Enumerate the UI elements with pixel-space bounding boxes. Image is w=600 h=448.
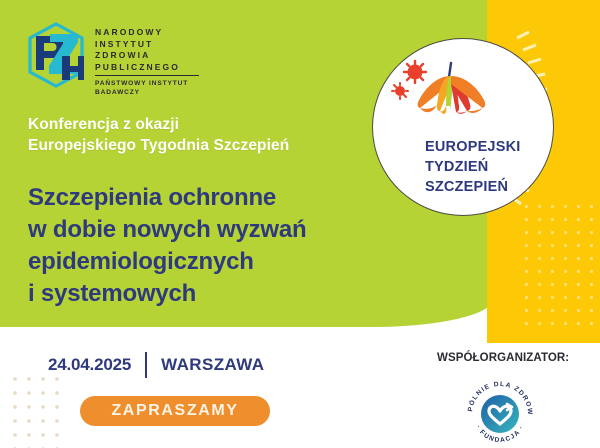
institute-line-1: NARODOWY: [95, 27, 199, 39]
institute-logo: NARODOWY INSTYTUT ZDROWIA PUBLICZNEGO PA…: [26, 22, 199, 97]
event-city: WARSZAWA: [161, 355, 264, 375]
institute-line-2: INSTYTUT: [95, 39, 199, 51]
institute-line-3: ZDROWIA: [95, 50, 199, 62]
conference-poster: NARODOWY INSTYTUT ZDROWIA PUBLICZNEGO PA…: [0, 0, 600, 448]
meta-divider: [145, 352, 147, 378]
conference-title: Szczepienia ochronne w dobie nowych wyzw…: [28, 182, 307, 310]
conference-kicker: Konferencja z okazji Europejskiego Tygod…: [28, 114, 289, 156]
virus-icons: [392, 61, 426, 99]
institute-line-4: PUBLICZNEGO: [95, 62, 199, 74]
institute-logo-divider: [95, 75, 199, 76]
event-date: 24.04.2025: [48, 355, 131, 375]
institute-sub-line-1: PAŃSTWOWY INSTYTUT: [95, 79, 199, 88]
background-yellow-dot-pattern: [520, 200, 600, 330]
umbrella-icon: [387, 55, 515, 141]
coorganizer-label: WSPÓŁORGANIZATOR:: [437, 352, 569, 364]
background-left-dot-pattern: [8, 372, 68, 448]
institute-logo-wordmark: NARODOWY INSTYTUT ZDROWIA PUBLICZNEGO PA…: [95, 22, 199, 97]
pzh-monogram-icon: [26, 22, 86, 88]
invitation-button[interactable]: ZAPRASZAMY: [80, 396, 270, 426]
institute-sub-line-2: BADAWCZY: [95, 88, 199, 97]
coorganizer-foundation-logo: WSPÓLNIE DLA ZDROWIA · FUNDACJA ·: [462, 374, 538, 448]
european-immunization-week-badge: EUROPEJSKI TYDZIEŃ SZCZEPIEŃ: [372, 38, 554, 216]
european-immunization-week-text: EUROPEJSKI TYDZIEŃ SZCZEPIEŃ: [425, 137, 520, 197]
event-meta: 24.04.2025 WARSZAWA: [48, 352, 264, 378]
